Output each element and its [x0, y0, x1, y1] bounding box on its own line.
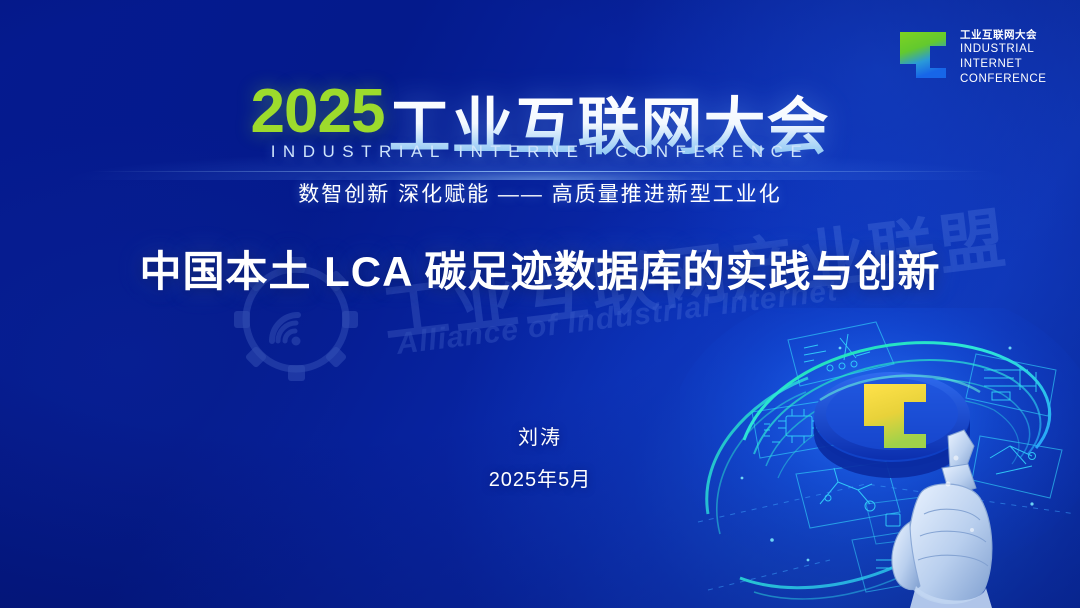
masthead-year: 2025 [251, 77, 385, 146]
conference-logo-en-line1: INDUSTRIAL [960, 42, 1047, 57]
page-title: 中国本土 LCA 碳足迹数据库的实践与创新 [0, 238, 1080, 299]
conference-logo-en-line2: INTERNET [960, 57, 1047, 72]
presentation-slide: 工业互联网产业联盟 Alliance of Industrial Interne… [0, 0, 1080, 608]
presenter-date: 2025年5月 [0, 465, 1080, 495]
conference-logo-cn: 工业互联网大会 [960, 29, 1047, 42]
presenter-block: 刘涛 2025年5月 [0, 424, 1080, 495]
masthead-tagline: 数智创新 深化赋能 —— 高质量推进新型工业化 [0, 178, 1080, 208]
presenter-name: 刘涛 [0, 424, 1080, 453]
masthead-en-subtitle: INDUSTRIAL INTERNET CONFERENCE [0, 142, 1080, 162]
